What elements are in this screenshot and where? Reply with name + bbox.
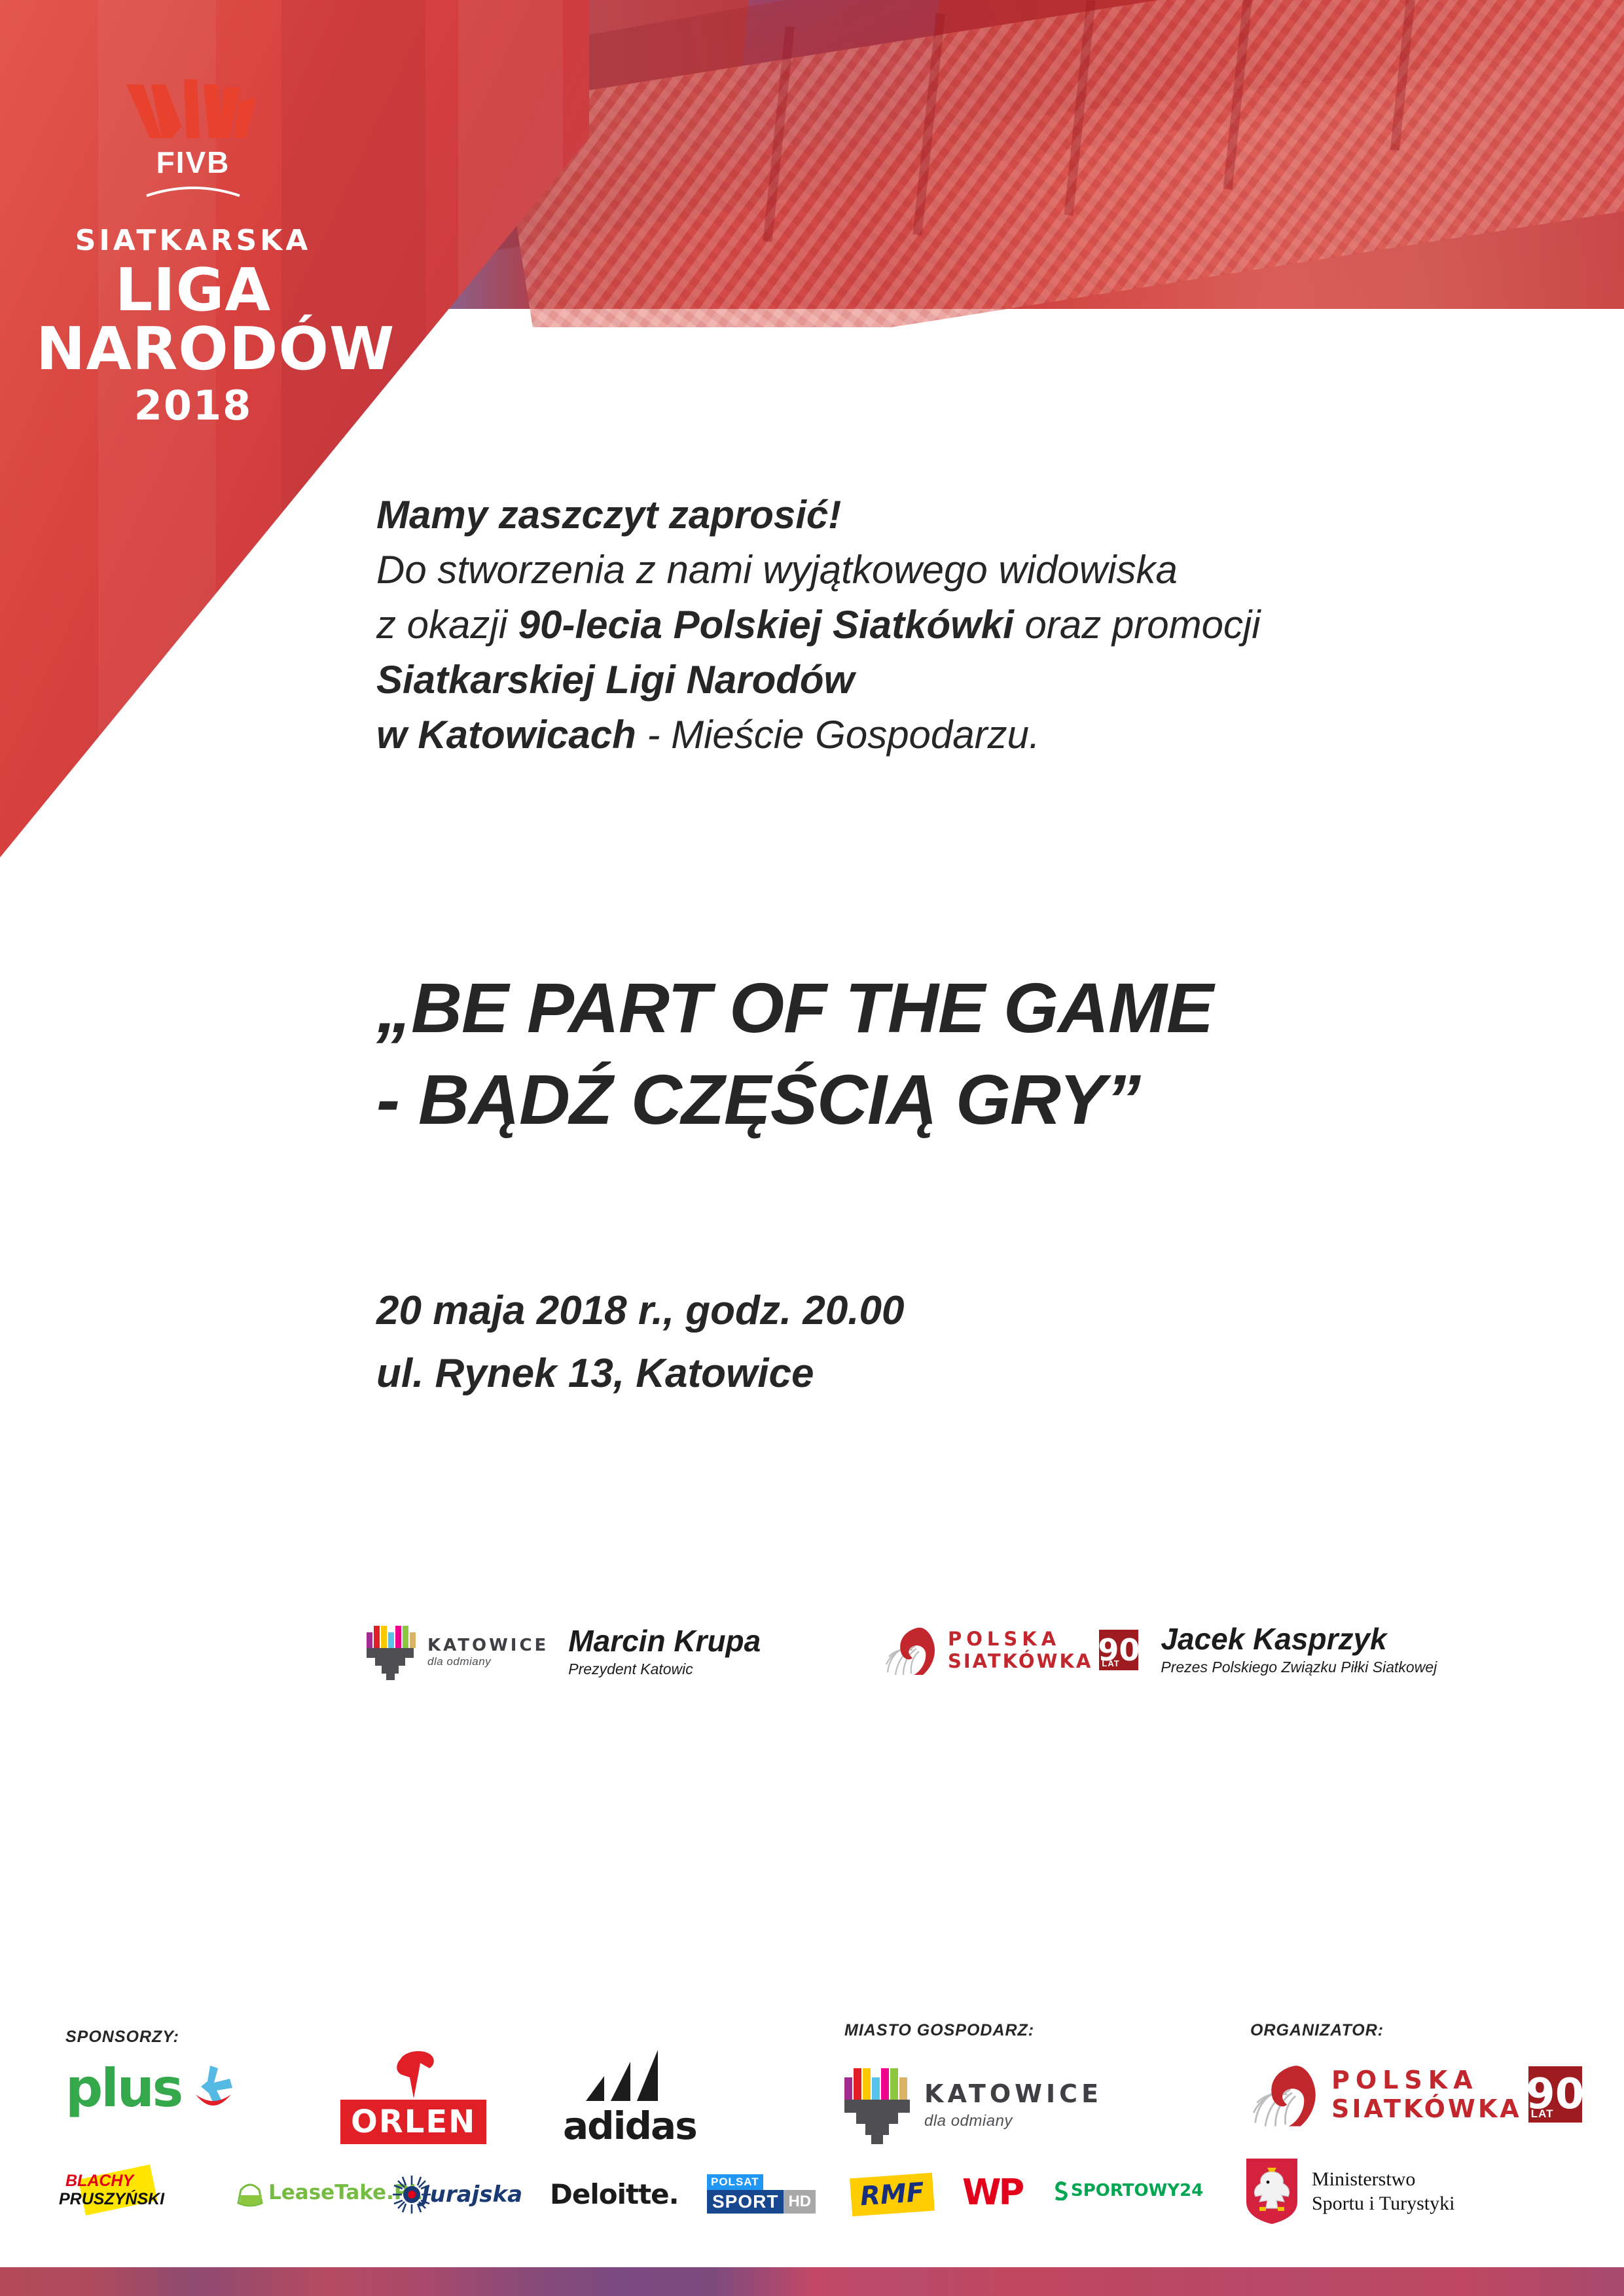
katowice-color-bars xyxy=(367,1623,417,1648)
page-headline: „BE PART OF THE GAME - BĄDŹ CZĘŚCIĄ GRY” xyxy=(376,962,1555,1145)
sportowy-s-icon xyxy=(1054,2181,1068,2200)
eagle-globe-icon xyxy=(1250,2060,1322,2128)
adidas-wordmark: adidas xyxy=(563,2104,696,2148)
anniversary-90-badge: 90 LAT xyxy=(1099,1630,1138,1670)
leasetake-basket-icon xyxy=(236,2178,264,2207)
logo-line-liga-narodow: LIGA NARODÓW xyxy=(36,261,350,379)
katowice-logo-icon xyxy=(367,1623,417,1680)
signatory-name: Marcin Krupa xyxy=(568,1625,761,1657)
signatory-role: Prezes Polskiego Związku Piłki Siatkowej xyxy=(1161,1659,1437,1676)
invite-line-3-prefix: z okazji xyxy=(376,603,518,647)
orlen-eagle-icon xyxy=(381,2049,446,2100)
pzps-wordmark-line1: POLSKA xyxy=(1331,2066,1522,2094)
polish-coat-of-arms-icon xyxy=(1244,2157,1300,2225)
blachy-line-1: BLACHY xyxy=(65,2172,134,2191)
polsat-wordmark: POLSAT xyxy=(707,2174,763,2190)
rmf-wordmark: RMF xyxy=(850,2173,935,2217)
signature-katowice: KATOWICE dla odmiany Marcin Krupa Prezyd… xyxy=(367,1623,761,1680)
host-city-katowice: KATOWICE dla odmiany xyxy=(844,2066,1102,2144)
anniversary-label: LAT xyxy=(1531,2108,1554,2121)
sponsor-sportowy24: SPORTOWY24 xyxy=(1054,2181,1203,2200)
sponsor-jurajska: Jurajska xyxy=(393,2176,522,2214)
katowice-wordmark: KATOWICE xyxy=(924,2079,1102,2108)
polsat-sport-wordmark: SPORT xyxy=(707,2190,784,2214)
logo-year: 2018 xyxy=(36,382,350,429)
sponsor-blachy-pruszynski: BLACHY PRUSZYŃSKI xyxy=(59,2168,183,2212)
polska-siatkowka-logo-icon: POLSKA SIATKÓWKA 90 LAT xyxy=(884,1624,1138,1676)
sponsors-label: SPONSORZY: xyxy=(65,2028,179,2047)
pzps-wordmark-line2: SIATKÓWKA xyxy=(948,1650,1092,1672)
host-city-label: MIASTO GOSPODARZ: xyxy=(844,2021,1034,2040)
invite-line-2: Do stworzenia z nami wyjątkowego widowis… xyxy=(376,543,1502,598)
sportowy24-wordmark: SPORTOWY24 xyxy=(1071,2181,1203,2200)
logo-line-siatkarska: SIATKARSKA xyxy=(36,224,350,257)
event-datetime: 20 maja 2018 r., godz. 20.00 xyxy=(376,1280,1489,1342)
adidas-stripes-icon xyxy=(574,2050,685,2104)
katowice-tagline: dla odmiany xyxy=(427,1655,549,1668)
sponsor-deloitte: Deloitte. xyxy=(550,2178,679,2210)
katowice-color-bars xyxy=(844,2066,910,2100)
polsat-hd-badge: HD xyxy=(784,2190,816,2214)
plus-symbol-icon xyxy=(184,2060,240,2117)
katowice-logo-icon xyxy=(844,2066,910,2144)
headline-line-1: „BE PART OF THE GAME xyxy=(376,962,1555,1054)
invite-line-3-emphasis: 90-lecia Polskiej Siatkówki xyxy=(518,603,1014,647)
jurajska-wordmark: Jurajska xyxy=(422,2181,522,2208)
fivb-wordmark: FIVB xyxy=(36,145,350,180)
signatory-role: Prezydent Katowic xyxy=(568,1660,761,1678)
pzps-wordmark-line2: SIATKÓWKA xyxy=(1331,2094,1522,2123)
anniversary-label: LAT xyxy=(1102,1659,1119,1668)
eagle-globe-icon xyxy=(884,1624,940,1676)
blachy-line-2: PRUSZYŃSKI xyxy=(59,2190,164,2209)
fivb-smile-icon xyxy=(36,181,350,202)
invitation-text-block: Mamy zaszczyt zaprosić! Do stworzenia z … xyxy=(376,488,1502,762)
vnl-logo-lockup: FIVB SIATKARSKA LIGA NARODÓW 2018 xyxy=(36,75,350,429)
signature-pzps: POLSKA SIATKÓWKA 90 LAT Jacek Kasprzyk P… xyxy=(884,1623,1437,1676)
invite-line-5-suffix: - Mieście Gospodarzu. xyxy=(636,713,1040,757)
sponsor-wp: WP xyxy=(962,2172,1022,2213)
orlen-wordmark: ORLEN xyxy=(340,2100,486,2144)
vnl-mark-icon xyxy=(36,75,350,147)
wp-wordmark: WP xyxy=(962,2172,1022,2213)
sponsor-polsat-sport-hd: POLSAT SPORT HD xyxy=(707,2174,816,2214)
katowice-wordmark: KATOWICE xyxy=(427,1636,549,1655)
headline-line-2: - BĄDŹ CZĘŚCIĄ GRY” xyxy=(376,1054,1555,1145)
event-details: 20 maja 2018 r., godz. 20.00 ul. Rynek 1… xyxy=(376,1280,1489,1405)
sponsor-adidas: adidas xyxy=(563,2050,696,2148)
sponsor-rmf: RMF xyxy=(851,2176,933,2214)
invite-line-3: z okazji 90-lecia Polskiej Siatkówki ora… xyxy=(376,598,1502,653)
katowice-pyramid-icon xyxy=(367,1648,414,1680)
organizer-label: ORGANIZATOR: xyxy=(1250,2021,1384,2040)
signatory-name: Jacek Kasprzyk xyxy=(1161,1623,1437,1655)
ministry-line-1: Ministerstwo xyxy=(1312,2167,1454,2192)
footer-sponsors: SPONSORZY: MIASTO GOSPODARZ: ORGANIZATOR… xyxy=(0,2003,1624,2267)
deloitte-wordmark: Deloitte. xyxy=(550,2178,679,2210)
invite-greeting: Mamy zaszczyt zaprosić! xyxy=(376,488,1502,543)
anniversary-90-badge: 90 LAT xyxy=(1528,2066,1582,2123)
invite-line-5-city: w Katowicach xyxy=(376,713,636,757)
katowice-pyramid-icon xyxy=(844,2100,910,2144)
signature-block: KATOWICE dla odmiany Marcin Krupa Prezyd… xyxy=(367,1610,1479,1708)
ministry-of-sport: Ministerstwo Sportu i Turystyki xyxy=(1244,2157,1454,2225)
invite-line-3-suffix: oraz promocji xyxy=(1014,603,1261,647)
invite-line-5: w Katowicach - Mieście Gospodarzu. xyxy=(376,708,1502,762)
plus-wordmark: plus xyxy=(65,2065,181,2112)
sponsor-orlen: ORLEN xyxy=(340,2049,486,2144)
pzps-wordmark-line1: POLSKA xyxy=(948,1628,1092,1650)
sponsor-plus: plus xyxy=(65,2060,240,2117)
organizer-pzps: POLSKA SIATKÓWKA 90 LAT xyxy=(1250,2060,1582,2128)
event-address: ul. Rynek 13, Katowice xyxy=(376,1342,1489,1405)
invite-line-4: Siatkarskiej Ligi Narodów xyxy=(376,653,1502,708)
bottom-decorative-band xyxy=(0,2267,1624,2296)
katowice-tagline: dla odmiany xyxy=(924,2112,1102,2130)
ministry-line-2: Sportu i Turystyki xyxy=(1312,2191,1454,2216)
